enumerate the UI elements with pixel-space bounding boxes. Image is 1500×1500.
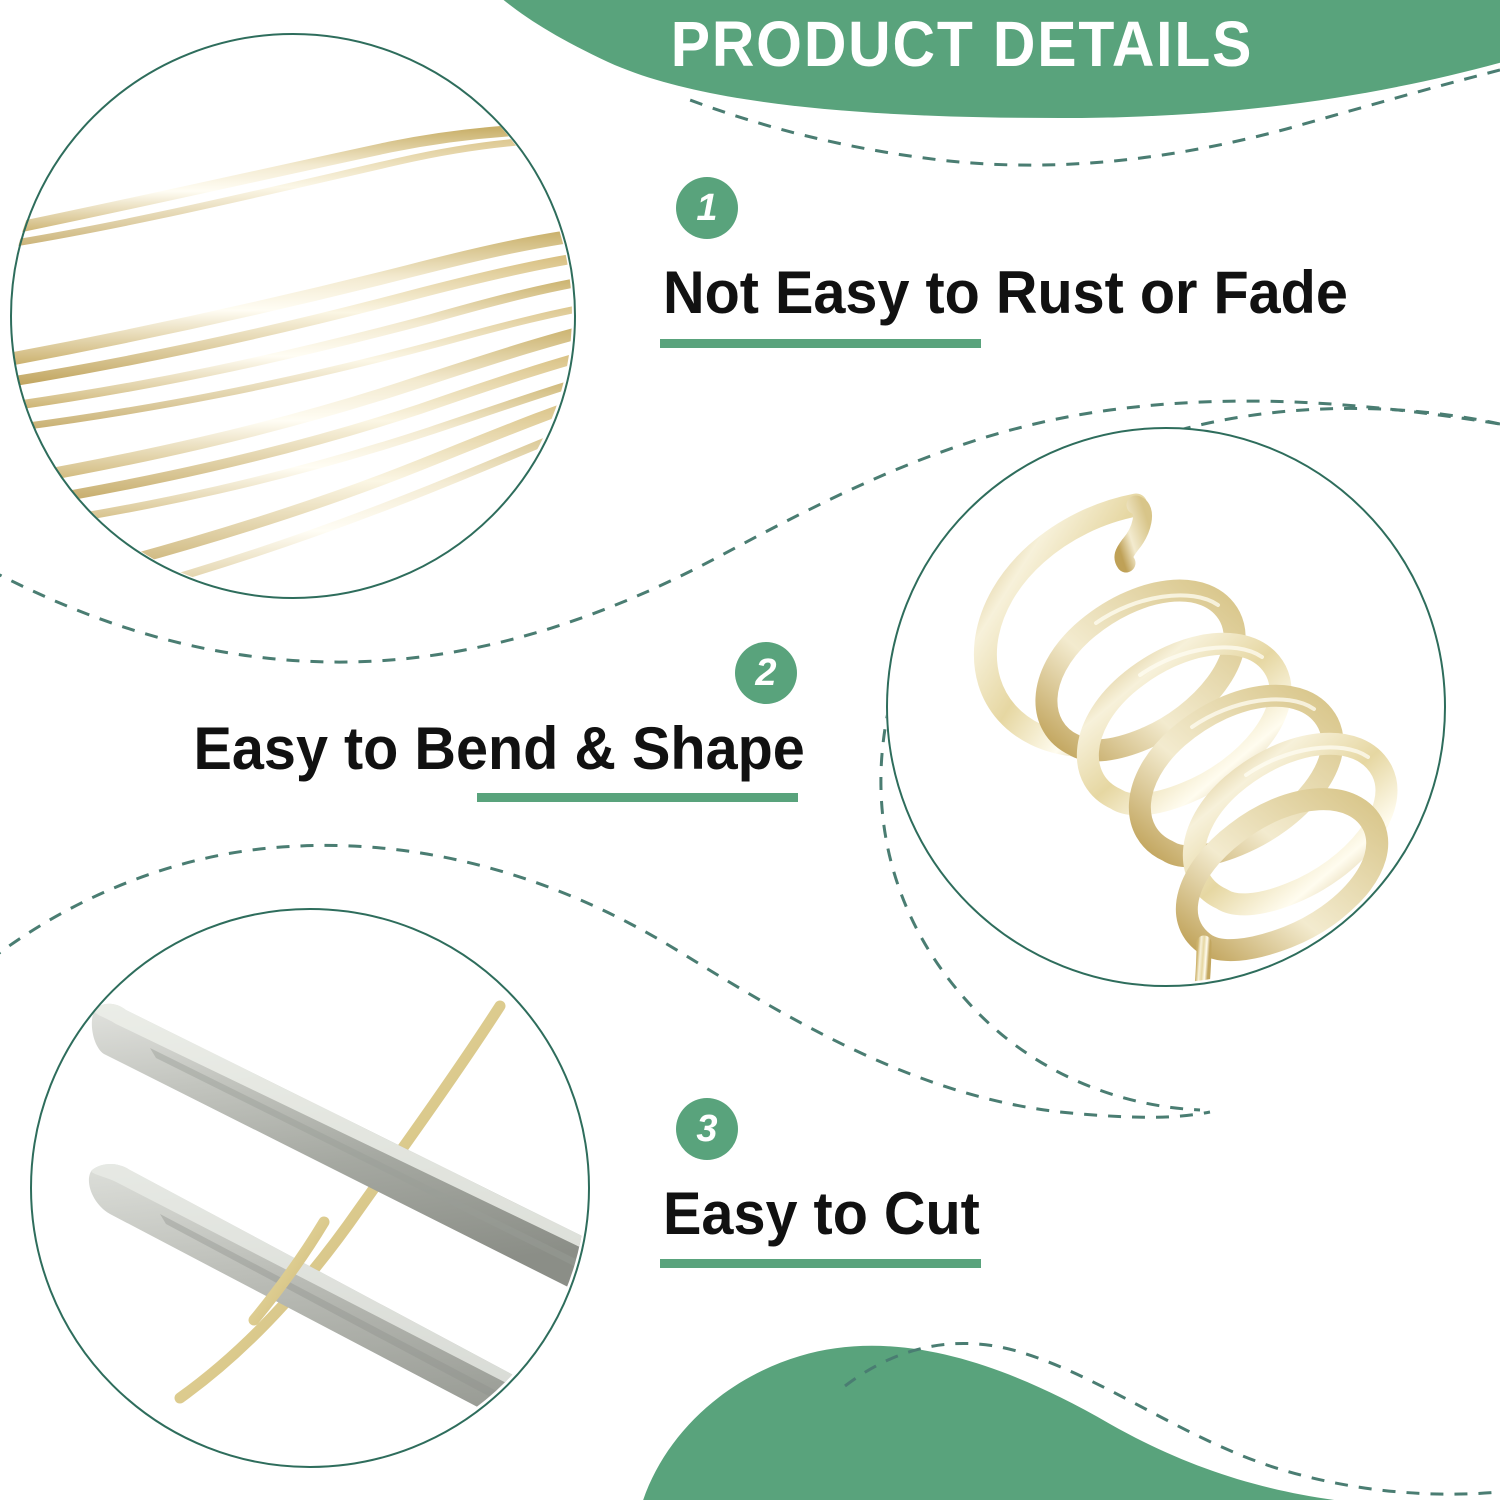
feature-underline-3 (660, 1259, 981, 1268)
product-details-infographic: PRODUCT DETAILS 1 Not Easy to Rust or Fa… (0, 0, 1500, 1500)
feature-heading-3: Easy to Cut (663, 1183, 980, 1245)
step-badge-3: 3 (676, 1098, 738, 1160)
feature-block-3: 3 Easy to Cut (0, 0, 1500, 1400)
content-text-layer: PRODUCT DETAILS 1 Not Easy to Rust or Fa… (0, 0, 1500, 1500)
